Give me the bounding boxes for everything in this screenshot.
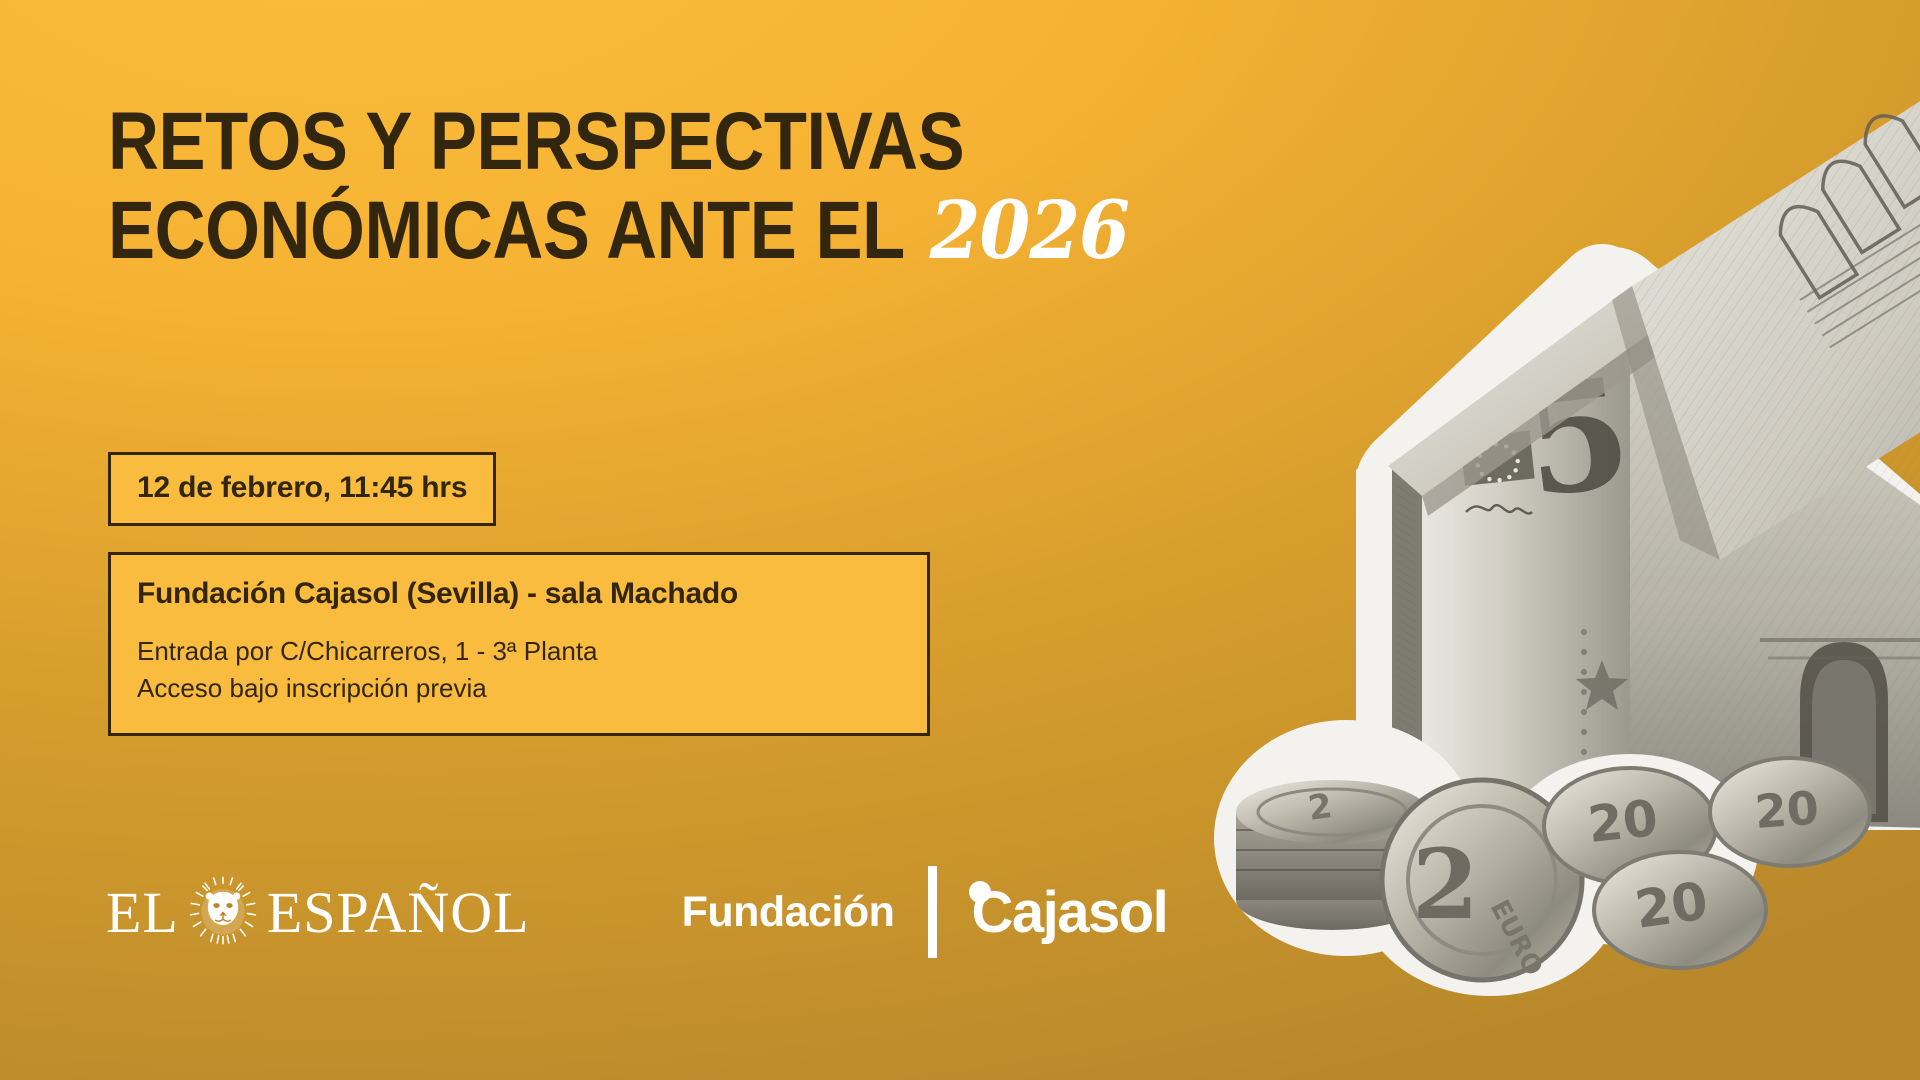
venue-access-note: Acceso bajo inscripción previa: [137, 670, 901, 707]
svg-text:20: 20: [1631, 871, 1711, 940]
svg-text:20: 20: [1585, 789, 1660, 854]
title-line-1: RETOS Y PERSPECTIVAS: [108, 98, 1243, 187]
svg-text:20: 20: [1753, 781, 1821, 839]
logo-fundacion-cajasol[interactable]: Fundación Cajasol: [682, 866, 1168, 958]
title-line-2: ECONÓMICAS ANTE EL: [108, 187, 905, 276]
logo-cajasol-word: Cajasol: [971, 880, 1167, 945]
logo-el-espanol-word-el: EL: [106, 879, 179, 946]
logo-fundacion-word: Fundación: [682, 888, 895, 937]
event-date-box: 12 de febrero, 11:45 hrs: [108, 452, 496, 526]
lion-head-icon: [179, 876, 267, 948]
vertical-bar-divider-icon: [928, 866, 937, 958]
title-line-2-row: ECONÓMICAS ANTE EL 2026: [108, 187, 1243, 276]
page-title: RETOS Y PERSPECTIVAS ECONÓMICAS ANTE EL …: [108, 98, 1428, 275]
event-date-text: 12 de febrero, 11:45 hrs: [137, 471, 467, 505]
logo-el-espanol-word-espanol: ESPAÑOL: [267, 879, 530, 946]
event-banner: 50: [0, 0, 1920, 1080]
event-venue-box: Fundación Cajasol (Sevilla) - sala Macha…: [108, 552, 930, 736]
logo-row: EL: [106, 866, 1167, 958]
svg-text:2: 2: [1412, 828, 1479, 941]
cajasol-dot-icon: [969, 881, 991, 903]
title-year: 2026: [930, 187, 1129, 273]
logo-cajasol-word-wrap: Cajasol: [971, 879, 1167, 946]
venue-address: Entrada por C/Chicarreros, 1 - 3ª Planta: [137, 633, 901, 670]
venue-title: Fundación Cajasol (Sevilla) - sala Macha…: [137, 577, 901, 611]
logo-el-espanol[interactable]: EL: [106, 876, 530, 948]
